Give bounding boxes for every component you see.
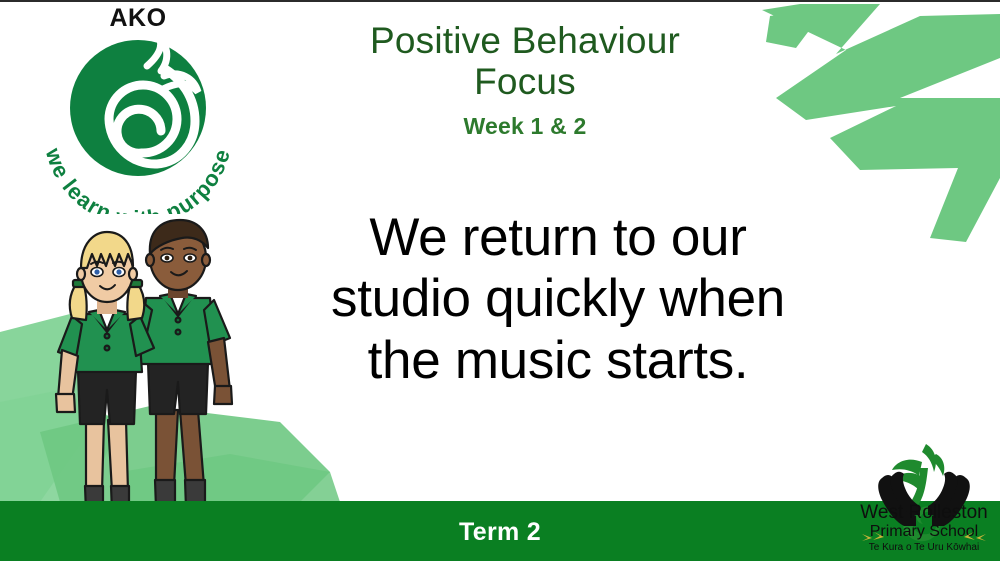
term-label: Term 2 — [0, 518, 1000, 547]
school-logo-name-maori: Te Kura o Te Uru Kōwhai — [869, 542, 979, 553]
page-title-line2: Focus — [474, 61, 576, 102]
ako-logo: AKO we learn with purpose — [18, 4, 258, 214]
ako-logo-word: AKO — [18, 4, 258, 33]
main-message-line1: We return to our — [248, 207, 868, 268]
title-block: Positive Behaviour Focus Week 1 & 2 — [290, 20, 760, 140]
school-logo-name-line2: Primary School — [870, 523, 978, 540]
girl-student — [56, 232, 154, 536]
page-title: Positive Behaviour Focus — [290, 20, 760, 103]
main-message-line3: the music starts. — [248, 330, 868, 391]
main-message: We return to our studio quickly when the… — [248, 207, 868, 391]
presentation-slide: AKO we learn with purpose Positive Behav… — [0, 0, 1000, 561]
ako-logo-graphic: we learn with purpose — [18, 4, 258, 214]
footer-bar: Term 2 — [0, 501, 1000, 561]
page-subtitle: Week 1 & 2 — [290, 113, 760, 140]
page-title-line1: Positive Behaviour — [370, 20, 680, 61]
school-logo-name-line1: West Rolleston — [860, 502, 987, 523]
main-message-line2: studio quickly when — [248, 268, 868, 329]
school-logo: West Rolleston Primary School Te Kura o … — [852, 442, 996, 560]
